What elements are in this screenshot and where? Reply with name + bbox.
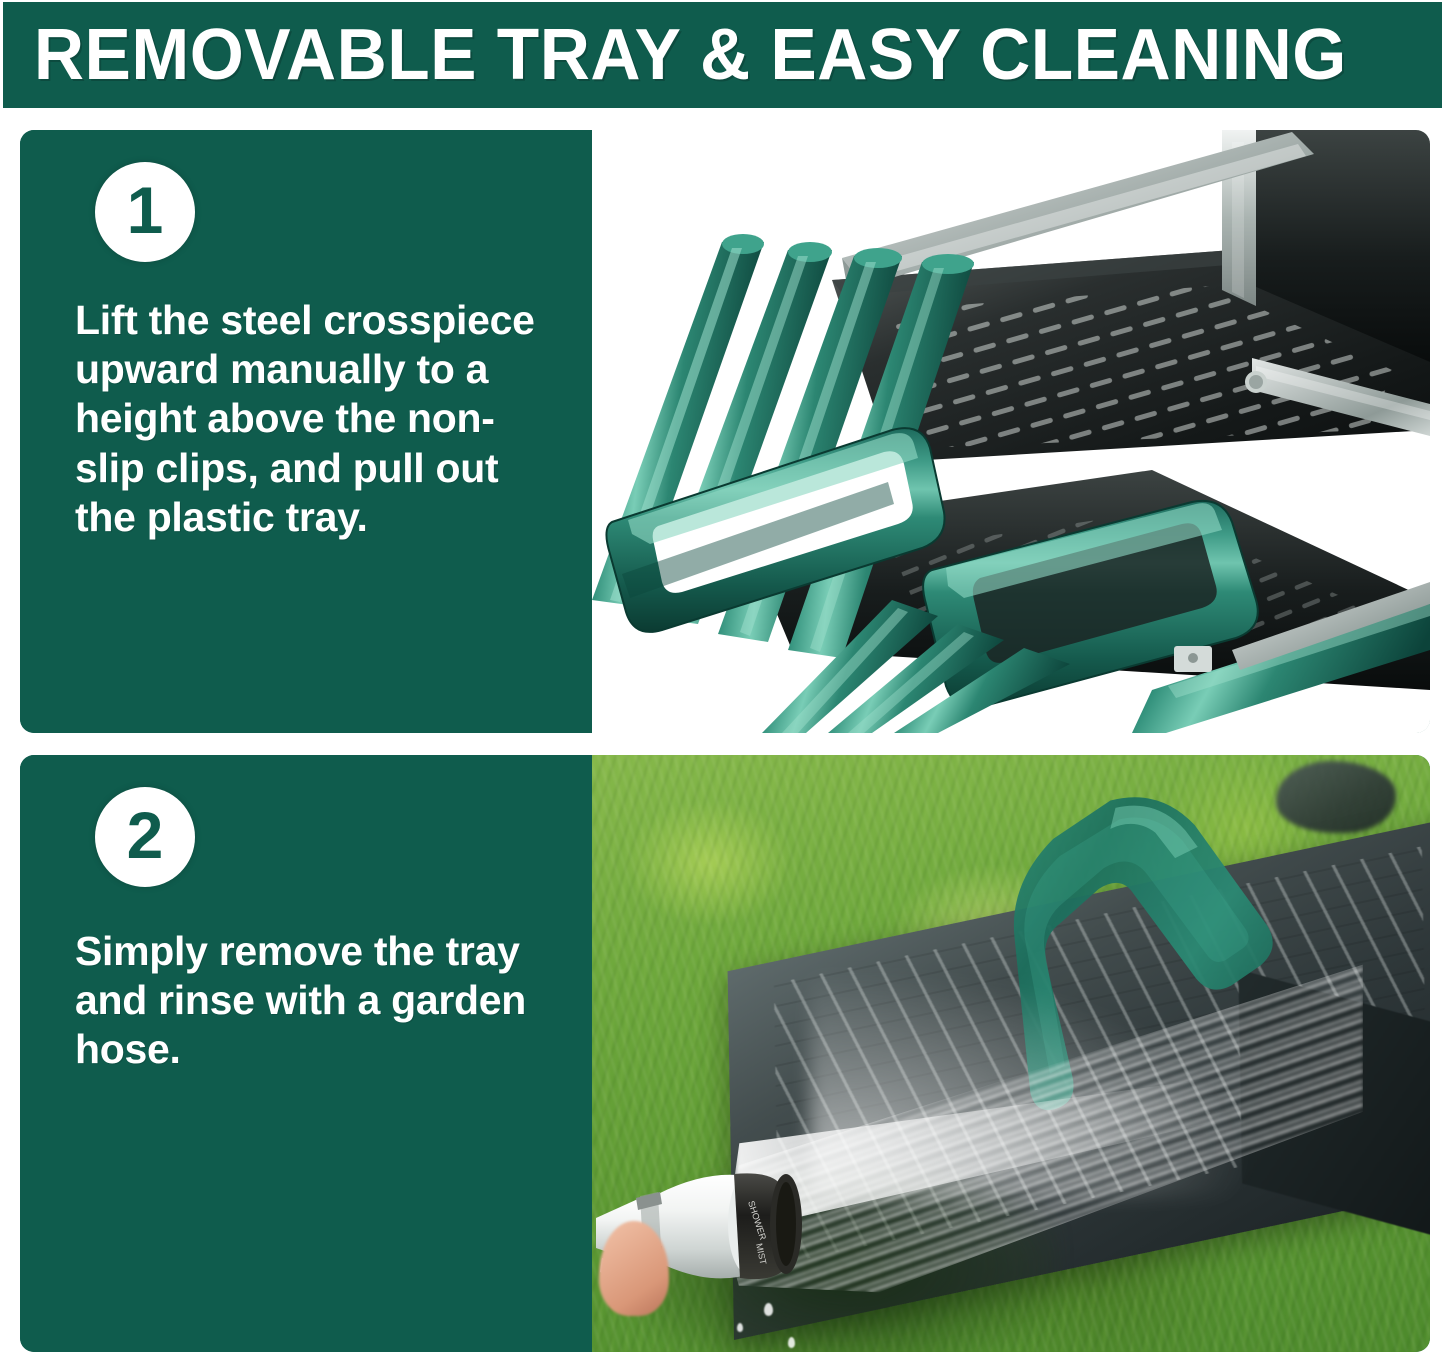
water-drop-3 <box>737 1323 743 1332</box>
step-2-photo: SHOWER MIST <box>592 755 1430 1352</box>
step-1-text-column: 1 Lift the steel crosspiece upward manua… <box>20 130 592 733</box>
garden-cart-illustration <box>592 130 1430 733</box>
rock-icon <box>1276 761 1396 833</box>
step-2-description: Simply remove the tray and rinse with a … <box>75 927 562 1075</box>
step-1-number: 1 <box>127 177 164 243</box>
step-card-1: 1 Lift the steel crosspiece upward manua… <box>20 130 1430 733</box>
step-1-photo <box>592 130 1430 733</box>
step-2-text-column: 2 Simply remove the tray and rinse with … <box>20 755 592 1352</box>
step-1-number-badge: 1 <box>95 162 195 262</box>
step-1-description: Lift the steel crosspiece upward manuall… <box>75 296 562 542</box>
hose-nozzle: SHOWER MIST <box>596 1146 896 1316</box>
step-2-number-badge: 2 <box>95 787 195 887</box>
header-banner: REMOVABLE TRAY & EASY CLEANING <box>3 2 1442 108</box>
step-2-number: 2 <box>127 802 164 868</box>
page-title: REMOVABLE TRAY & EASY CLEANING <box>3 19 1347 91</box>
step-card-2: 2 Simply remove the tray and rinse with … <box>20 755 1430 1352</box>
